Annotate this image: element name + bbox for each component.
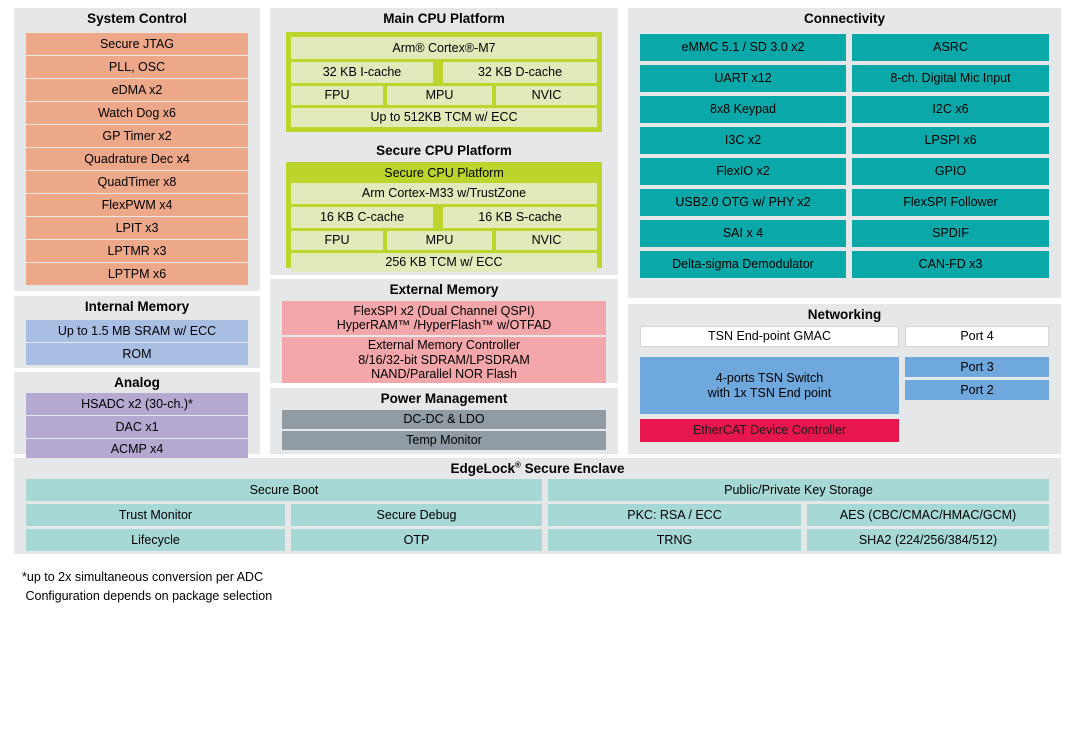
- analog-panel: Analog HSADC x2 (30-ch.)* DAC x1 ACMP x4: [14, 372, 260, 454]
- system-control-panel: System Control Secure JTAG PLL, OSC eDMA…: [14, 8, 260, 291]
- block-secure-mpu[interactable]: MPU: [387, 231, 492, 250]
- power-management-panel: Power Management DC-DC & LDO Temp Monito…: [270, 388, 618, 454]
- block-scache[interactable]: 16 KB S-cache: [443, 207, 597, 228]
- block-secure-jtag[interactable]: Secure JTAG: [26, 33, 248, 55]
- block-flexspi-hyperram[interactable]: FlexSPI x2 (Dual Channel QSPI) HyperRAM™…: [282, 301, 606, 335]
- footnote-line-2: Configuration depends on package selecti…: [22, 587, 272, 606]
- system-control-title: System Control: [14, 8, 260, 29]
- block-dac[interactable]: DAC x1: [26, 416, 248, 438]
- memctrl-line3: NAND/Parallel NOR Flash: [371, 367, 517, 381]
- block-nvic[interactable]: NVIC: [496, 86, 597, 105]
- block-gp-timer[interactable]: GP Timer x2: [26, 125, 248, 147]
- internal-memory-title: Internal Memory: [14, 296, 260, 317]
- block-memory-controller[interactable]: External Memory Controller 8/16/32-bit S…: [282, 337, 606, 383]
- block-sha2[interactable]: SHA2 (224/256/384/512): [807, 529, 1049, 551]
- block-spdif[interactable]: SPDIF: [852, 220, 1049, 247]
- secure-cpu-frame: Secure CPU Platform Arm Cortex-M33 w/Tru…: [286, 162, 602, 268]
- block-lpspi[interactable]: LPSPI x6: [852, 127, 1049, 154]
- block-cortex-m33[interactable]: Arm Cortex-M33 w/TrustZone: [291, 183, 597, 204]
- flexspi-line1: FlexSPI x2 (Dual Channel QSPI): [353, 304, 534, 318]
- block-secure-fpu[interactable]: FPU: [291, 231, 383, 250]
- block-dcache[interactable]: 32 KB D-cache: [443, 62, 597, 83]
- analog-title: Analog: [14, 372, 260, 393]
- block-pll-osc[interactable]: PLL, OSC: [26, 56, 248, 78]
- block-lpit[interactable]: LPIT x3: [26, 217, 248, 239]
- block-can-fd[interactable]: CAN-FD x3: [852, 251, 1049, 278]
- tsn-switch-line1: 4-ports TSN Switch: [716, 371, 823, 385]
- secure-cpu-panel: Secure CPU Platform Secure CPU Platform …: [270, 140, 618, 275]
- block-hsadc[interactable]: HSADC x2 (30-ch.)*: [26, 393, 248, 415]
- block-mpu[interactable]: MPU: [387, 86, 492, 105]
- secure-cpu-title: Secure CPU Platform: [270, 140, 618, 161]
- footnote-line-1: *up to 2x simultaneous conversion per AD…: [22, 568, 263, 587]
- block-lptpm[interactable]: LPTPM x6: [26, 263, 248, 285]
- block-sai[interactable]: SAI x 4: [640, 220, 846, 247]
- block-otp[interactable]: OTP: [291, 529, 542, 551]
- block-emmc-sd[interactable]: eMMC 5.1 / SD 3.0 x2: [640, 34, 846, 61]
- memctrl-line1: External Memory Controller: [368, 338, 520, 352]
- block-icache[interactable]: 32 KB I-cache: [291, 62, 433, 83]
- block-quadtimer[interactable]: QuadTimer x8: [26, 171, 248, 193]
- connectivity-panel: Connectivity eMMC 5.1 / SD 3.0 x2 UART x…: [628, 8, 1061, 298]
- block-trust-monitor[interactable]: Trust Monitor: [26, 504, 285, 526]
- networking-panel: Networking TSN End-point GMAC Port 4 4-p…: [628, 304, 1061, 454]
- block-ccache[interactable]: 16 KB C-cache: [291, 207, 433, 228]
- main-cpu-title: Main CPU Platform: [270, 8, 618, 29]
- connectivity-title: Connectivity: [628, 8, 1061, 29]
- block-quadrature-dec[interactable]: Quadrature Dec x4: [26, 148, 248, 170]
- block-digital-mic[interactable]: 8-ch. Digital Mic Input: [852, 65, 1049, 92]
- block-main-tcm[interactable]: Up to 512KB TCM w/ ECC: [291, 108, 597, 127]
- power-management-title: Power Management: [270, 388, 618, 409]
- block-delta-sigma[interactable]: Delta-sigma Demodulator: [640, 251, 846, 278]
- block-tsn-switch[interactable]: 4-ports TSN Switch with 1x TSN End point: [640, 357, 899, 414]
- flexspi-line2: HyperRAM™ /HyperFlash™ w/OTFAD: [337, 318, 552, 332]
- internal-memory-panel: Internal Memory Up to 1.5 MB SRAM w/ ECC…: [14, 296, 260, 368]
- networking-title: Networking: [628, 304, 1061, 325]
- block-sram[interactable]: Up to 1.5 MB SRAM w/ ECC: [26, 320, 248, 342]
- block-fpu[interactable]: FPU: [291, 86, 383, 105]
- block-port-2[interactable]: Port 2: [905, 380, 1049, 400]
- block-lifecycle[interactable]: Lifecycle: [26, 529, 285, 551]
- block-secure-nvic[interactable]: NVIC: [496, 231, 597, 250]
- block-pkc[interactable]: PKC: RSA / ECC: [548, 504, 801, 526]
- block-flexio[interactable]: FlexIO x2: [640, 158, 846, 185]
- secure-cpu-subtitle: Secure CPU Platform: [291, 164, 597, 182]
- block-usb-otg[interactable]: USB2.0 OTG w/ PHY x2: [640, 189, 846, 216]
- block-gpio[interactable]: GPIO: [852, 158, 1049, 185]
- block-ethercat[interactable]: EtherCAT Device Controller: [640, 419, 899, 442]
- block-asrc[interactable]: ASRC: [852, 34, 1049, 61]
- main-cpu-panel: Main CPU Platform Arm® Cortex®-M7 32 KB …: [270, 8, 618, 140]
- block-uart[interactable]: UART x12: [640, 65, 846, 92]
- block-secure-tcm[interactable]: 256 KB TCM w/ ECC: [291, 253, 597, 272]
- block-key-storage[interactable]: Public/Private Key Storage: [548, 479, 1049, 501]
- block-i2c[interactable]: I2C x6: [852, 96, 1049, 123]
- block-trng[interactable]: TRNG: [548, 529, 801, 551]
- block-edma[interactable]: eDMA x2: [26, 79, 248, 101]
- block-port-3[interactable]: Port 3: [905, 357, 1049, 377]
- block-i3c[interactable]: I3C x2: [640, 127, 846, 154]
- block-flexspi-follower[interactable]: FlexSPI Follower: [852, 189, 1049, 216]
- block-flexpwm[interactable]: FlexPWM x4: [26, 194, 248, 216]
- external-memory-title: External Memory: [270, 279, 618, 300]
- edgelock-title-pre: EdgeLock: [451, 461, 516, 476]
- block-dcdc-ldo[interactable]: DC-DC & LDO: [282, 410, 606, 429]
- block-port-4[interactable]: Port 4: [905, 326, 1049, 347]
- memctrl-line2: 8/16/32-bit SDRAM/LPSDRAM: [358, 353, 530, 367]
- edgelock-title: EdgeLock® Secure Enclave: [14, 458, 1061, 479]
- block-secure-debug[interactable]: Secure Debug: [291, 504, 542, 526]
- tsn-switch-line2: with 1x TSN End point: [708, 386, 831, 400]
- block-cortex-m7[interactable]: Arm® Cortex®-M7: [291, 37, 597, 59]
- block-temp-monitor[interactable]: Temp Monitor: [282, 431, 606, 450]
- edgelock-title-post: Secure Enclave: [521, 461, 625, 476]
- block-aes[interactable]: AES (CBC/CMAC/HMAC/GCM): [807, 504, 1049, 526]
- block-acmp[interactable]: ACMP x4: [26, 439, 248, 460]
- external-memory-panel: External Memory FlexSPI x2 (Dual Channel…: [270, 279, 618, 383]
- block-rom[interactable]: ROM: [26, 343, 248, 365]
- block-secure-boot[interactable]: Secure Boot: [26, 479, 542, 501]
- block-tsn-gmac[interactable]: TSN End-point GMAC: [640, 326, 899, 347]
- block-lptmr[interactable]: LPTMR x3: [26, 240, 248, 262]
- edgelock-panel: EdgeLock® Secure Enclave Secure Boot Pub…: [14, 458, 1061, 554]
- main-cpu-frame: Arm® Cortex®-M7 32 KB I-cache 32 KB D-ca…: [286, 32, 602, 132]
- block-watch-dog[interactable]: Watch Dog x6: [26, 102, 248, 124]
- block-keypad[interactable]: 8x8 Keypad: [640, 96, 846, 123]
